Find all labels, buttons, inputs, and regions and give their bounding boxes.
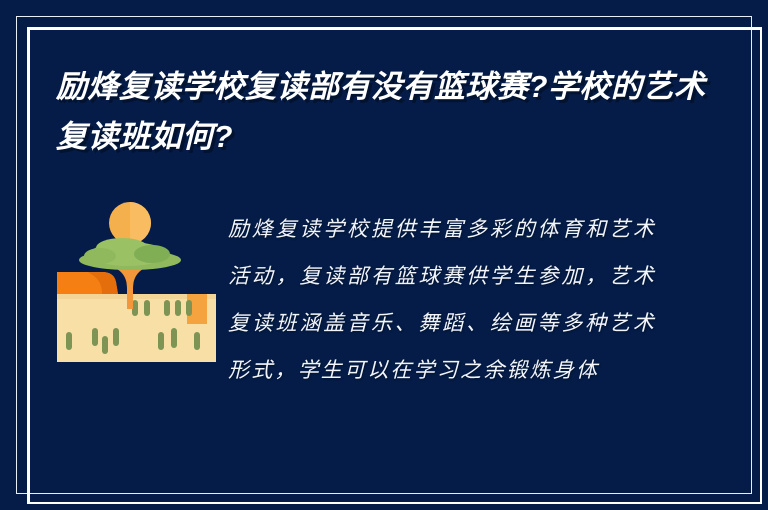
building-window: [194, 332, 200, 350]
frame-mask-right: [762, 0, 768, 510]
building-window: [171, 328, 177, 348]
tree-canopy-right: [134, 245, 170, 263]
building-window: [113, 328, 119, 346]
tree-canopy-left: [84, 248, 116, 264]
body-paragraph: 励烽复读学校提供丰富多彩的体育和艺术活动，复读部有篮球赛供学生参加，艺术复读班涵…: [228, 206, 656, 394]
building-window: [186, 300, 192, 316]
building-window: [158, 332, 164, 350]
poster-canvas: 励烽复读学校复读部有没有篮球赛?学校的艺术复读班如何?: [0, 0, 768, 510]
building-window: [66, 332, 72, 350]
sun-highlight: [130, 202, 151, 244]
building-window: [92, 328, 98, 346]
building-window: [144, 300, 150, 316]
campus-scene-illustration: [44, 196, 216, 362]
building-window: [102, 336, 108, 354]
frame-mask-bottom: [0, 504, 768, 510]
page-title: 励烽复读学校复读部有没有篮球赛?学校的艺术复读班如何?: [56, 62, 706, 162]
building-window: [175, 300, 181, 316]
building-window: [164, 300, 170, 316]
